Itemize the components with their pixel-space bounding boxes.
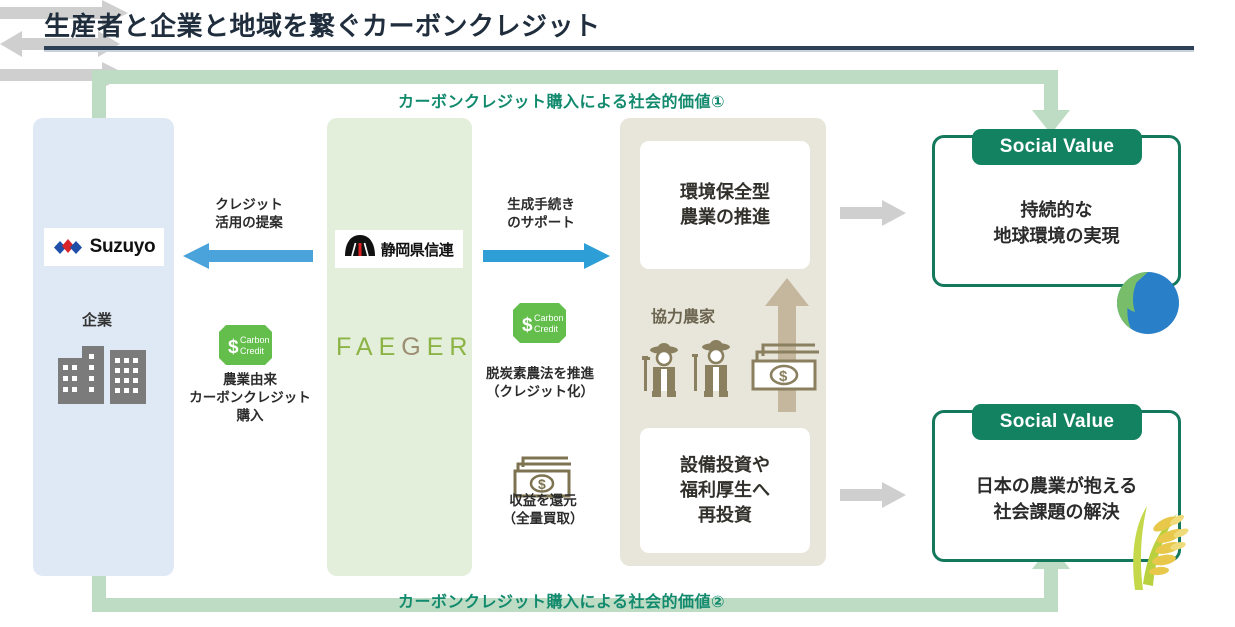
credit-purchase-line3: 購入 [185, 407, 315, 425]
reinvestment-card: 設備投資や 福利厚生へ 再投資 [640, 428, 810, 553]
eco-farming-line2: 農業の推進 [680, 205, 770, 230]
svg-text:$: $ [228, 337, 239, 358]
page-title: 生産者と企業と地域を繋ぐカーボンクレジット [44, 6, 601, 43]
shizuoka-fan-icon [345, 234, 375, 265]
company-caption: 企業 [82, 309, 112, 330]
svg-text:Carbon: Carbon [534, 313, 564, 323]
decarbonized-farming-line2: （クレジット化） [475, 383, 605, 401]
revenue-return-label: 収益を還元 （全量買取） [483, 492, 603, 528]
farmers-icon [640, 338, 744, 403]
blue-arrow-left-icon [183, 243, 313, 274]
eco-farming-line1: 環境保全型 [680, 180, 770, 205]
social-value-header-1: Social Value [972, 129, 1142, 165]
top-flow-label: カーボンクレジット購入による社会的価値① [398, 88, 725, 112]
reinvestment-line3: 再投資 [680, 503, 770, 528]
decarbonized-farming-line1: 脱炭素農法を推進 [475, 365, 605, 383]
credit-proposal-label: クレジット 活用の提案 [189, 196, 309, 232]
bottom-flow-label: カーボンクレジット購入による社会的価値② [398, 588, 725, 612]
social-value-1-line1: 持続的な [932, 197, 1181, 223]
shizuoka-shinren-logo: 静岡県信連 [335, 230, 463, 268]
rice-stalk-icon [1121, 480, 1191, 595]
office-buildings-icon [56, 340, 151, 409]
faeger-logo-part1: FAE [336, 333, 401, 361]
top-flow-band-right-stem [1044, 70, 1058, 112]
credit-purchase-line1: 農業由来 [185, 371, 315, 389]
svg-text:$: $ [538, 476, 546, 492]
credit-proposal-line2: 活用の提案 [189, 214, 309, 232]
top-flow-band-horizontal [92, 70, 1058, 84]
svg-text:Credit: Credit [534, 324, 559, 334]
svg-text:Carbon: Carbon [240, 335, 270, 345]
blue-arrow-right-icon [483, 243, 610, 274]
generation-support-line1: 生成手続き [485, 196, 597, 214]
shizuoka-shinren-text: 静岡県信連 [381, 239, 454, 260]
earth-globe-icon [1117, 272, 1179, 339]
money-icon: $ [751, 342, 823, 397]
revenue-return-line1: 収益を還元 [483, 492, 603, 510]
carbon-credit-badge: $ Carbon Credit [513, 303, 566, 348]
svg-text:Credit: Credit [240, 346, 265, 356]
faeger-logo: FAEGER [336, 333, 473, 362]
eco-farming-card: 環境保全型 農業の推進 [640, 141, 810, 269]
svg-text:$: $ [779, 368, 788, 385]
generation-support-label: 生成手続き のサポート [485, 196, 597, 232]
title-divider-shadow [44, 50, 1194, 52]
revenue-return-line2: （全量買取） [483, 510, 603, 528]
credit-proposal-line1: クレジット [189, 196, 309, 214]
suzuyo-diamond-icon [53, 239, 83, 256]
credit-purchase-label: 農業由来 カーボンクレジット 購入 [185, 371, 315, 426]
gray-arrow-right-icon-social-value-1 [840, 200, 906, 231]
generation-support-line2: のサポート [485, 214, 597, 232]
credit-purchase-line2: カーボンクレジット [185, 389, 315, 407]
svg-text:$: $ [522, 315, 533, 336]
social-value-text-1: 持続的な 地球環境の実現 [932, 197, 1181, 249]
decarbonized-farming-label: 脱炭素農法を推進 （クレジット化） [475, 365, 605, 401]
suzuyo-logo-text: Suzuyo [90, 236, 156, 258]
reinvestment-line1: 設備投資や [680, 453, 770, 478]
social-value-header-2: Social Value [972, 404, 1142, 440]
bottom-flow-band-right-stem [1044, 568, 1058, 612]
diagram-canvas: 生産者と企業と地域を繋ぐカーボンクレジット カーボンクレジット購入による社会的価… [0, 0, 1235, 627]
gray-arrow-right-icon-social-value-2 [840, 482, 906, 513]
faeger-logo-part3: ER [427, 333, 474, 361]
social-value-1-line2: 地球環境の実現 [932, 223, 1181, 249]
farm-caption: 協力農家 [651, 303, 715, 327]
carbon-credit-badge: $ Carbon Credit [219, 325, 272, 370]
reinvestment-line2: 福利厚生へ [680, 478, 770, 503]
suzuyo-logo: Suzuyo [44, 228, 164, 266]
faeger-logo-part2: G [401, 333, 426, 361]
